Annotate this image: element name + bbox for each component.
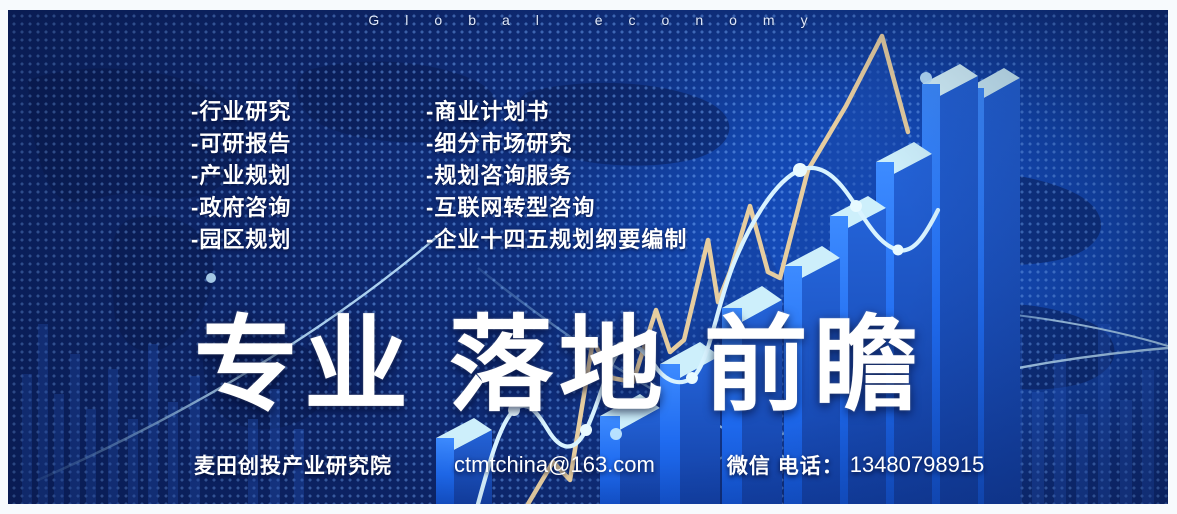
- service-list-left: -行业研究 -可研报告 -产业规划 -政府咨询 -园区规划: [191, 96, 291, 256]
- banner-header-text: Global economy: [8, 12, 1168, 28]
- headline-slogan: 专业 落地 前瞻: [194, 310, 924, 422]
- service-item: -可研报告: [191, 128, 291, 160]
- service-item: -产业规划: [191, 160, 291, 192]
- service-item: -行业研究: [191, 96, 291, 128]
- contact-bar: 麦田创投产业研究院 ctmtchina@163.com 微信 电话： 13480…: [194, 450, 984, 480]
- vignette-overlay: [8, 10, 1168, 504]
- wechat-phone-label: 微信 电话：: [727, 450, 844, 480]
- email-address: ctmtchina@163.com: [454, 452, 655, 478]
- service-item: -细分市场研究: [426, 128, 687, 160]
- service-item: -政府咨询: [191, 192, 291, 224]
- service-item: -互联网转型咨询: [426, 192, 687, 224]
- organization-name: 麦田创投产业研究院: [194, 450, 392, 480]
- service-item: -规划咨询服务: [426, 160, 687, 192]
- service-list-right: -商业计划书 -细分市场研究 -规划咨询服务 -互联网转型咨询 -企业十四五规划…: [426, 96, 687, 256]
- service-item: -企业十四五规划纲要编制: [426, 224, 687, 256]
- service-item: -园区规划: [191, 224, 291, 256]
- phone-number: 13480798915: [850, 452, 985, 478]
- promo-banner: Global economy -行业研究 -可研报告 -产业规划 -政府咨询 -…: [8, 10, 1168, 504]
- service-item: -商业计划书: [426, 96, 687, 128]
